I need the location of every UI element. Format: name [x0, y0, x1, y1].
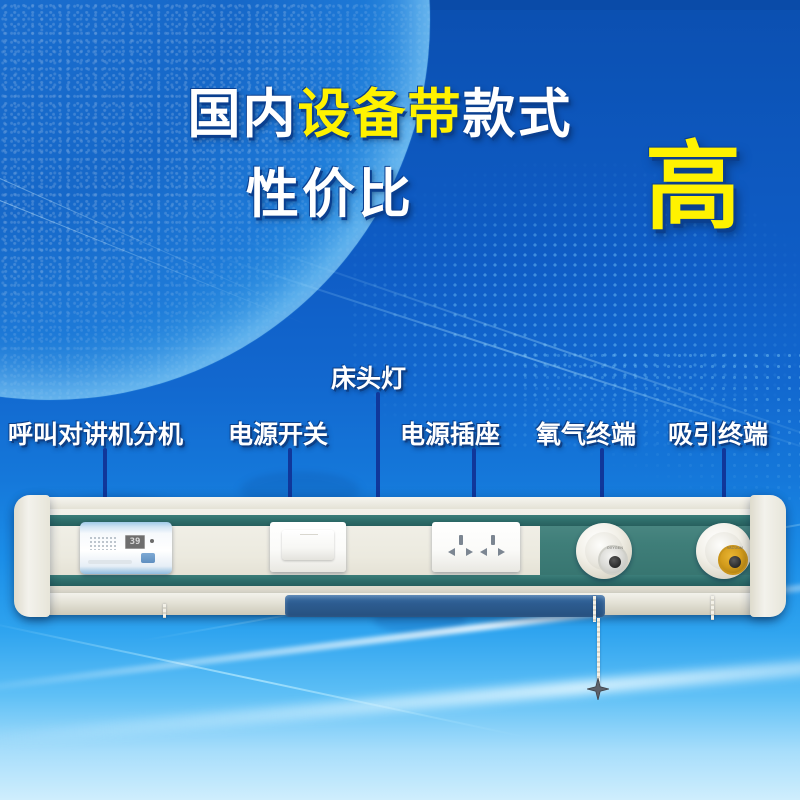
intercom-vent-slot — [88, 560, 132, 564]
device-top-edge — [20, 497, 780, 509]
rocker-indent — [300, 534, 318, 535]
device-stripe-bottom — [46, 575, 756, 586]
callout-layer: 呼叫对讲机分机 电源开关 床头灯 电源插座 氧气终端 吸引终端 — [0, 0, 800, 800]
product-banner: 国内设备带款式 性价比 高 呼叫对讲机分机 电源开关 床头灯 电源插座 氧气终端… — [0, 0, 800, 800]
oxygen-terminal-ring: OXYGEN — [585, 532, 623, 570]
socket-pin-right — [498, 548, 505, 556]
pull-cord-hook-icon[interactable] — [587, 678, 609, 700]
oxygen-terminal-face: OXYGEN — [598, 545, 628, 575]
socket-pin-right — [466, 548, 473, 556]
callout-label-intercom: 呼叫对讲机分机 — [8, 415, 183, 451]
callout-label-oxygen: 氧气终端 — [536, 415, 636, 451]
pull-cord-short[interactable] — [163, 604, 166, 618]
power-switch[interactable] — [270, 522, 346, 572]
pull-cord-oxygen[interactable] — [593, 596, 596, 622]
speaker-grille-icon — [89, 536, 117, 550]
socket-outlet-left[interactable] — [446, 535, 476, 559]
socket-pin-vertical — [491, 535, 495, 545]
socket-outlet-right[interactable] — [478, 535, 508, 559]
callout-label-suction: 吸引终端 — [668, 415, 768, 451]
device-end-cap-left — [14, 495, 50, 617]
oxygen-terminal-marking: OXYGEN — [600, 546, 630, 550]
callout-label-power-socket: 电源插座 — [400, 415, 500, 451]
socket-pin-vertical — [459, 535, 463, 545]
socket-pin-left — [448, 548, 455, 556]
callout-label-bed-lamp: 床头灯 — [331, 359, 406, 395]
intercom-call-button[interactable] — [141, 553, 155, 563]
socket-pin-left — [480, 548, 487, 556]
suction-terminal-face: VACUUM — [718, 545, 748, 575]
power-socket[interactable] — [432, 522, 520, 572]
intercom-handset[interactable]: 39 — [80, 522, 172, 574]
device-end-cap-right — [750, 495, 786, 617]
suction-terminal-ring: VACUUM — [705, 532, 743, 570]
status-led-icon — [150, 539, 154, 543]
intercom-display: 39 — [125, 535, 145, 549]
oxygen-terminal-port[interactable] — [609, 556, 621, 568]
suction-terminal-port[interactable] — [729, 556, 741, 568]
bed-head-unit-device: 39 — [20, 497, 780, 615]
suction-terminal-marking: VACUUM — [720, 546, 750, 550]
suction-terminal[interactable]: VACUUM — [696, 523, 752, 579]
device-blue-trough — [285, 595, 605, 617]
rocker-switch-icon[interactable] — [282, 530, 334, 560]
oxygen-terminal[interactable]: OXYGEN — [576, 523, 632, 579]
device-body: 39 — [20, 497, 780, 605]
pull-cord-suction[interactable] — [711, 596, 714, 620]
callout-label-power-switch: 电源开关 — [228, 415, 328, 451]
